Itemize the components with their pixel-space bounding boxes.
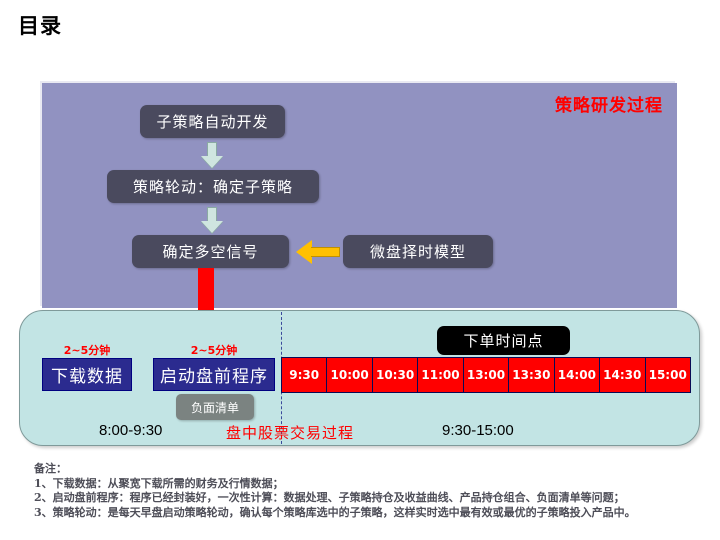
flow-box-micro-cap-timing-model[interactable]: 微盘择时模型 [343, 235, 493, 268]
down-arrow-icon-dev-to-rotation [201, 142, 223, 168]
research-process-caption: 策略研发过程 [555, 91, 663, 116]
note-line-3: 3、策略轮动：是每天早盘启动策略轮动，确认每个策略库选中的子策略，这样实时选中最… [34, 506, 714, 521]
page-title: 目录 [18, 10, 62, 40]
time-slot-cell[interactable]: 10:30 [373, 357, 418, 393]
time-slot-cell[interactable]: 10:00 [327, 357, 372, 393]
flow-box-long-short-signal[interactable]: 确定多空信号 [132, 235, 289, 268]
time-slot-cell[interactable]: 13:00 [464, 357, 509, 393]
note-line-1: 1、下载数据：从聚宽下载所需的财务及行情数据； [34, 477, 714, 492]
flow-box-auto-development[interactable]: 子策略自动开发 [140, 105, 285, 138]
time-slot-cell[interactable]: 14:00 [555, 357, 600, 393]
slide-canvas: 目录 策略研发过程 子策略自动开发 策略轮动：确定子策略 确定多空信号 微盘择时… [0, 0, 720, 540]
time-slot-cell[interactable]: 14:30 [600, 357, 645, 393]
notes-heading: 备注： [34, 462, 714, 477]
duration-label-download: 2~5分钟 [42, 342, 132, 358]
negative-list-badge[interactable]: 负面清单 [176, 394, 254, 420]
step-box-start-preopen-program[interactable]: 启动盘前程序 [153, 358, 275, 391]
note-line-2: 2、启动盘前程序：程序已经封装好，一次性计算：数据处理、子策略持仓及收益曲线、产… [34, 491, 714, 506]
notes-block: 备注： 1、下载数据：从聚宽下载所需的财务及行情数据； 2、启动盘前程序：程序已… [34, 462, 714, 520]
time-slot-cell[interactable]: 13:30 [509, 357, 554, 393]
order-time-badge[interactable]: 下单时间点 [437, 326, 570, 355]
order-time-slot-strip: 9:3010:0010:3011:0013:0013:3014:0014:301… [281, 357, 691, 393]
step-box-download-data[interactable]: 下载数据 [42, 358, 132, 391]
time-slot-cell[interactable]: 9:30 [281, 357, 327, 393]
duration-label-preopen: 2~5分钟 [153, 342, 275, 358]
time-slot-cell[interactable]: 11:00 [418, 357, 463, 393]
left-arrow-icon-timing-to-signal [296, 240, 340, 264]
down-arrow-icon-rotation-to-signal [201, 207, 223, 233]
time-slot-cell[interactable]: 15:00 [646, 357, 691, 393]
flow-box-strategy-rotation[interactable]: 策略轮动：确定子策略 [107, 170, 319, 203]
label-trading-session: 9:30-15:00 [442, 422, 514, 439]
label-morning-window: 8:00-9:30 [99, 422, 162, 439]
label-intraday-trading-process: 盘中股票交易过程 [226, 422, 354, 443]
